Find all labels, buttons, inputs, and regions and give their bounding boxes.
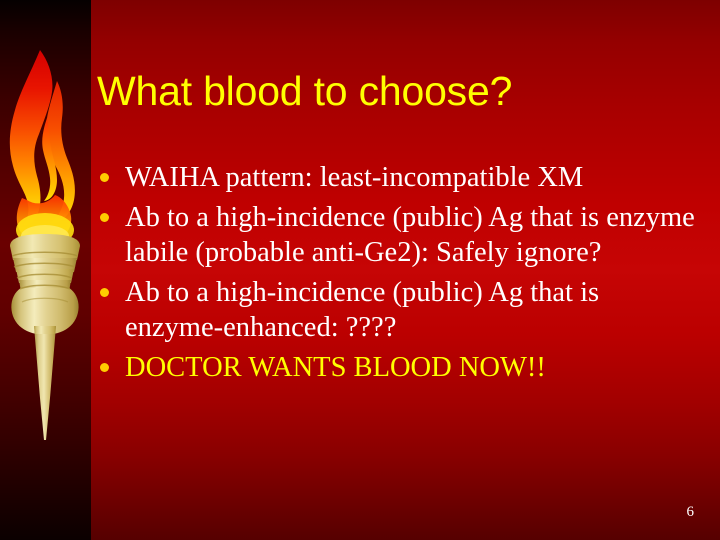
bullet-list: WAIHA pattern: least-incompatible XM Ab … (96, 160, 696, 390)
list-item-label: Ab to a high-incidence (public) Ag that … (125, 275, 696, 345)
slide-canvas: What blood to choose? WAIHA pattern: lea… (0, 0, 720, 540)
list-item: WAIHA pattern: least-incompatible XM (96, 160, 696, 195)
list-item-label: WAIHA pattern: least-incompatible XM (125, 160, 696, 195)
list-item-label: DOCTOR WANTS BLOOD NOW!! (125, 350, 696, 385)
list-item: DOCTOR WANTS BLOOD NOW!! (96, 350, 696, 385)
page-number: 6 (687, 504, 695, 520)
flame-icon (10, 50, 75, 247)
list-item: Ab to a high-incidence (public) Ag that … (96, 275, 696, 345)
bullet-dot-icon (100, 363, 109, 372)
torch-illustration (0, 48, 92, 448)
list-item-label: Ab to a high-incidence (public) Ag that … (125, 200, 696, 270)
bullet-dot-icon (100, 213, 109, 222)
bullet-dot-icon (100, 173, 109, 182)
list-item: Ab to a high-incidence (public) Ag that … (96, 200, 696, 270)
bullet-dot-icon (100, 288, 109, 297)
torch-cup (10, 234, 80, 335)
slide-title: What blood to choose? (97, 68, 687, 114)
torch-handle (34, 326, 56, 440)
